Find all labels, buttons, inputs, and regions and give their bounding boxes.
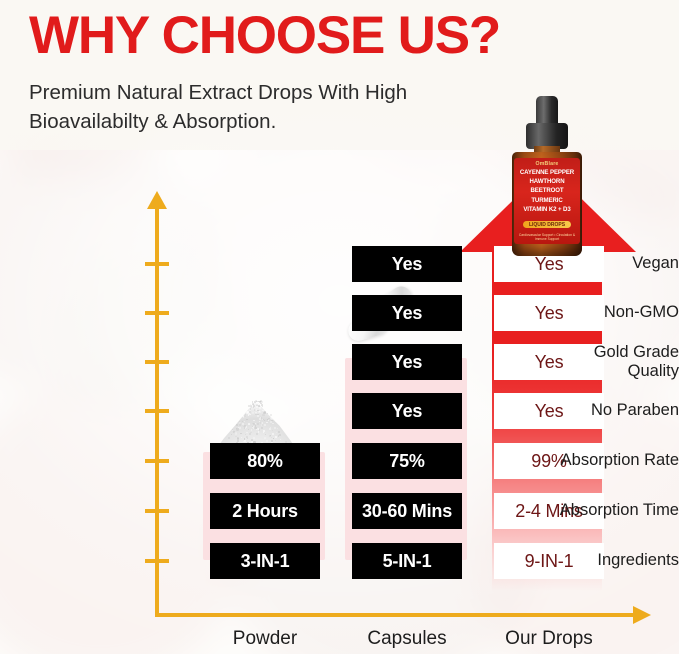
page-title: WHY CHOOSE US? [29,8,500,64]
y-axis-tick [145,459,169,463]
y-axis-tick [145,559,169,563]
row-label-non-gmo: Non-GMO [531,303,679,322]
cell-capsules-gold-grade-quality: Yes [352,344,462,380]
x-axis-line [155,613,636,617]
powder-grain [271,418,273,420]
powder-grain [260,405,261,406]
powder-grain [249,413,250,414]
powder-grain [257,414,258,415]
powder-grain [244,425,246,427]
cell-capsules-non-gmo: Yes [352,295,462,331]
infographic-canvas: WHY CHOOSE US? Premium Natural Extract D… [0,0,679,654]
cell-powder-ingredients: 3-IN-1 [210,543,320,579]
powder-grain [252,426,253,427]
category-label-our-drops: Our Drops [469,628,629,650]
powder-grain [246,412,248,414]
powder-grain [254,427,256,429]
bottle-ingredient-5: VITAMIN K2 + D3 [514,206,580,213]
powder-grain [264,411,266,413]
powder-grain [262,406,264,408]
bottle-ingredient-3: BEETROOT [514,187,580,194]
powder-grain [278,435,279,436]
bottle-form-badge: LIQUID DROPS [523,221,571,228]
powder-grain [278,431,280,433]
powder-grain [277,428,278,429]
powder-grain [244,415,246,417]
row-label-line: Gold Grade [531,343,679,362]
x-axis-arrow-icon [633,606,651,624]
powder-grain [258,428,259,429]
powder-grain [268,418,269,419]
y-axis-tick [145,311,169,315]
row-label-line: Absorption Rate [531,451,679,470]
powder-grain [260,401,262,403]
page-subtitle: Premium Natural Extract Drops With High … [29,78,459,136]
row-label-vegan: Vegan [531,254,679,273]
powder-grain [263,430,265,432]
y-axis-tick [145,360,169,364]
cell-capsules-absorption-rate: 75% [352,443,462,479]
row-label-line: Vegan [531,254,679,273]
powder-grain [266,409,268,411]
row-label-line: Absorption Time [531,501,679,520]
y-axis-tick [145,509,169,513]
powder-grain [253,405,255,407]
powder-grain [248,429,249,430]
product-bottle-image: OmBlare CAYENNE PEPPER HAWTHORN BEETROOT… [506,96,588,256]
bottle-ingredient-2: HAWTHORN [514,178,580,185]
dropper-cap [536,96,558,126]
powder-grain [270,414,272,416]
cell-capsules-no-paraben: Yes [352,393,462,429]
powder-grain [266,440,268,442]
cell-powder-absorption-time: 2 Hours [210,493,320,529]
y-axis-tick [145,409,169,413]
row-label-gold-grade-quality: Gold GradeQuality [531,343,679,381]
y-axis-tick [145,262,169,266]
cell-capsules-absorption-time: 30-60 Mins [352,493,462,529]
powder-grain [262,414,264,416]
category-label-capsules: Capsules [327,628,487,650]
powder-grain [246,436,248,438]
powder-grain [228,437,230,439]
powder-grain [275,436,277,438]
powder-grain [242,415,244,417]
powder-grain [236,428,238,430]
bottle-brand: OmBlare [514,161,580,167]
bottle-claims: Cardiovascular Support • Circulation & I… [514,233,580,242]
powder-grain [235,432,237,434]
row-label-line: No Paraben [531,401,679,420]
powder-grain [244,421,245,422]
row-label-absorption-time: Absorption Time [531,501,679,520]
powder-grain [239,427,241,429]
row-label-ingredients: Ingredients [531,551,679,570]
row-label-line: Non-GMO [531,303,679,322]
row-label-line: Quality [531,362,679,381]
powder-grain [248,423,250,425]
row-label-line: Ingredients [531,551,679,570]
category-label-powder: Powder [185,628,345,650]
cell-powder-absorption-rate: 80% [210,443,320,479]
row-label-no-paraben: No Paraben [531,401,679,420]
powder-grain [237,440,239,442]
cell-capsules-ingredients: 5-IN-1 [352,543,462,579]
row-label-absorption-rate: Absorption Rate [531,451,679,470]
bottle-label: OmBlare CAYENNE PEPPER HAWTHORN BEETROOT… [514,158,580,244]
powder-grain [252,406,253,407]
powder-grain [275,440,276,441]
cell-capsules-vegan: Yes [352,246,462,282]
bottle-ingredient-1: CAYENNE PEPPER [514,169,580,176]
bottle-ingredient-4: TURMERIC [514,197,580,204]
powder-grain [237,438,238,439]
powder-grain [280,439,281,440]
